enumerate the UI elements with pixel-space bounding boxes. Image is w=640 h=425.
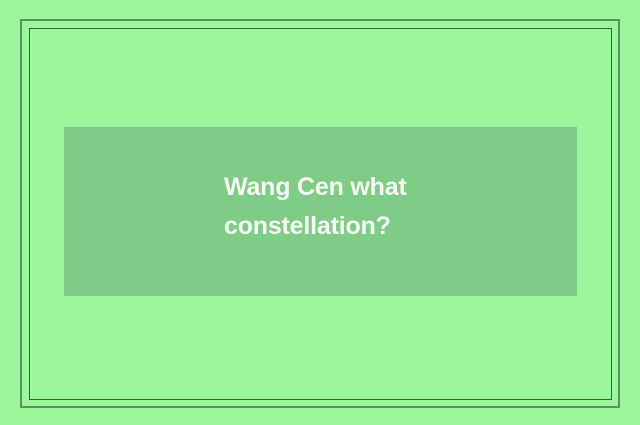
question-heading: Wang Cen what constellation?	[224, 168, 554, 246]
question-panel: Wang Cen what constellation?	[64, 127, 577, 296]
page-canvas: Wang Cen what constellation?	[0, 0, 640, 425]
